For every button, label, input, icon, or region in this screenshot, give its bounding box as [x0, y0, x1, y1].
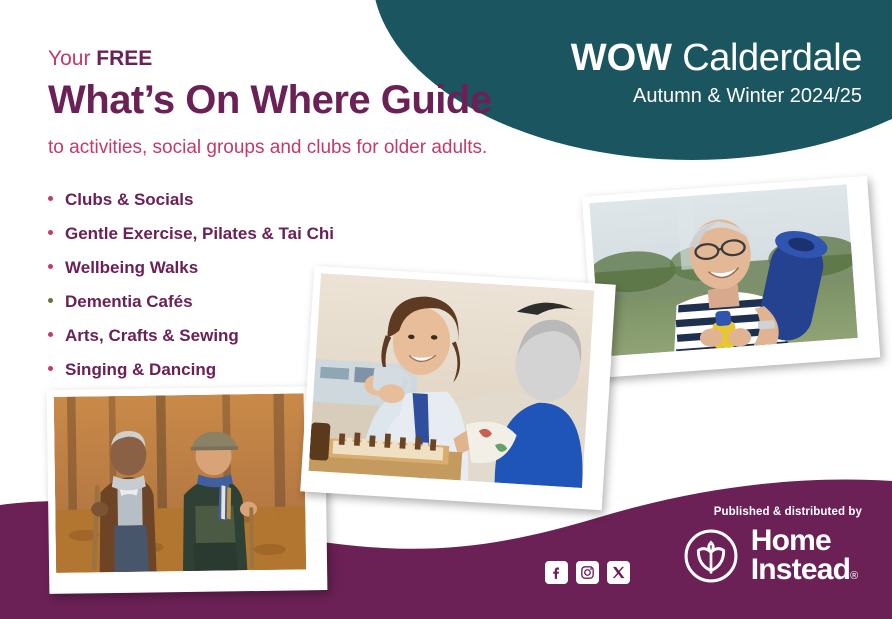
logo-instead-text: Instead	[751, 553, 850, 586]
brand-title: WOW Calderdale	[442, 36, 862, 80]
bullet-dot-icon	[48, 298, 53, 303]
list-item: Wellbeing Walks	[48, 258, 334, 278]
brand-calderdale: Calderdale	[682, 37, 862, 79]
logo-line-home: Home	[751, 526, 858, 555]
season-label: Autumn & Winter 2024/25	[442, 83, 862, 109]
registered-mark: ®	[850, 570, 857, 582]
list-item: Arts, Crafts & Sewing	[48, 326, 334, 346]
brand-header: WOW Calderdale Autumn & Winter 2024/25	[442, 36, 862, 109]
kicker-your: Your	[48, 47, 90, 70]
kicker-free: FREE	[96, 47, 152, 70]
social-links	[545, 561, 630, 584]
poster-canvas: WOW Calderdale Autumn & Winter 2024/25 Y…	[0, 0, 892, 619]
home-instead-logo: Home Instead®	[682, 526, 858, 591]
list-item-label: Singing & Dancing	[65, 360, 216, 380]
list-item-label: Arts, Crafts & Sewing	[65, 326, 239, 346]
tulip-circle-icon	[682, 527, 740, 590]
list-item: Singing & Dancing	[48, 360, 334, 380]
photo-walk-image	[54, 393, 321, 587]
brand-wow: WOW	[571, 37, 672, 79]
bullet-dot-icon	[48, 264, 53, 269]
list-item: Gentle Exercise, Pilates & Tai Chi	[48, 224, 334, 244]
list-item: Dementia Cafés	[48, 292, 334, 312]
photo-walk	[47, 386, 328, 594]
bullet-dot-icon	[48, 332, 53, 337]
headline-block: Your FREE What’s On Where Guide to activ…	[48, 46, 492, 160]
bullet-dot-icon	[48, 230, 53, 235]
list-item-label: Clubs & Socials	[65, 190, 193, 210]
logo-line-instead: Instead®	[751, 555, 858, 591]
photo-yoga-image	[589, 183, 873, 370]
page-subtitle: to activities, social groups and clubs f…	[48, 136, 492, 160]
home-instead-wordmark: Home Instead®	[751, 526, 858, 591]
kicker-line: Your FREE	[48, 46, 492, 71]
bullet-dot-icon	[48, 196, 53, 201]
list-item-label: Dementia Cafés	[65, 292, 193, 312]
bullet-dot-icon	[48, 366, 53, 371]
published-by-label: Published & distributed by	[714, 505, 862, 519]
list-item: Clubs & Socials	[48, 190, 334, 210]
photo-chess	[300, 266, 616, 511]
photo-yoga	[582, 176, 881, 378]
list-item-label: Wellbeing Walks	[65, 258, 198, 278]
category-list: Clubs & Socials Gentle Exercise, Pilates…	[48, 190, 334, 394]
instagram-icon[interactable]	[576, 561, 599, 584]
facebook-icon[interactable]	[545, 561, 568, 584]
photo-chess-image	[308, 273, 609, 503]
publisher-block: Published & distributed by Home Instead®	[682, 505, 862, 591]
x-icon[interactable]	[607, 561, 630, 584]
page-title: What’s On Where Guide	[48, 77, 492, 123]
list-item-label: Gentle Exercise, Pilates & Tai Chi	[65, 224, 334, 244]
